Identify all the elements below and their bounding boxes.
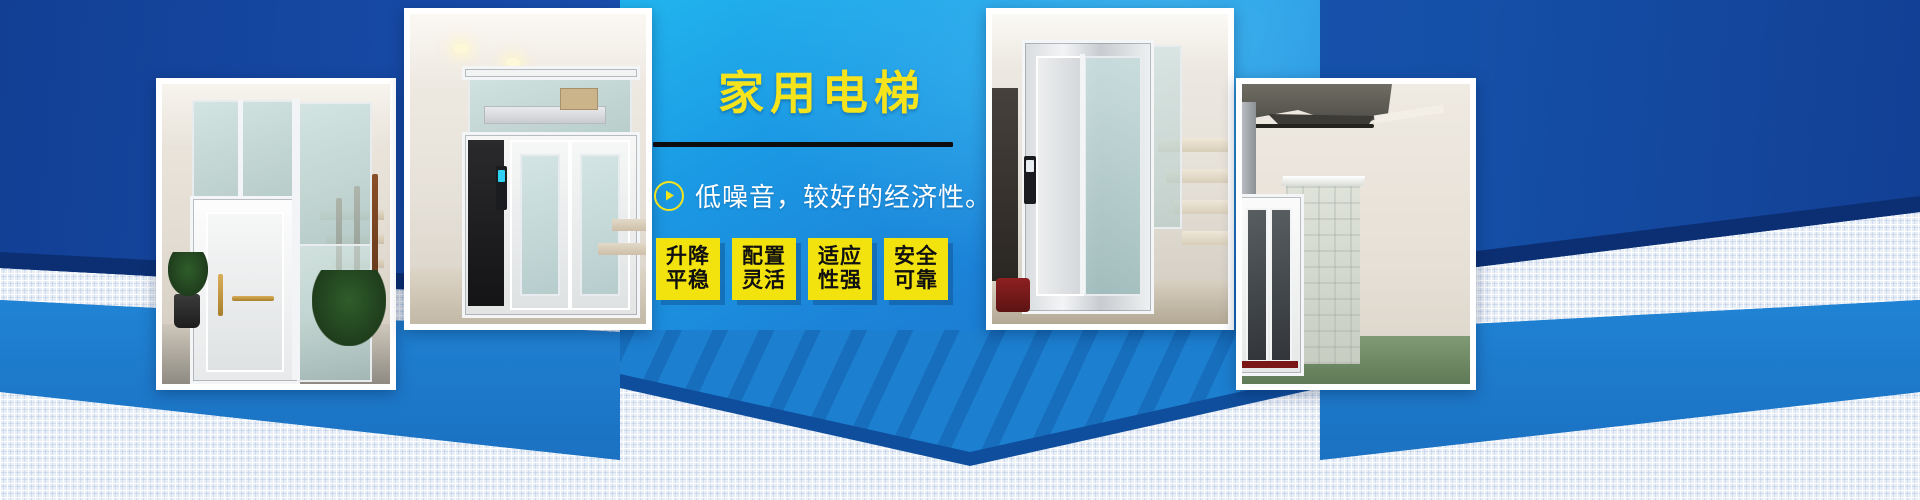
title-underline-rule [653,142,953,147]
page-title: 家用电梯 [666,70,978,116]
photo-card-3 [986,8,1234,330]
feature-tag-line2: 平稳 [666,269,710,293]
photo-home-elevator-white-double-door-lobby [410,14,646,324]
feature-tag-line1: 安全 [894,245,938,269]
feature-tag-line2: 灵活 [742,269,786,293]
center-bottom-chevron [620,330,1320,460]
circled-play-arrow-icon [654,181,684,211]
feature-tag-line1: 配置 [742,245,786,269]
feature-tag-list: 升降 平稳 配置 灵活 适应 性强 安全 可靠 [656,238,978,300]
feature-tag[interactable]: 安全 可靠 [884,238,948,300]
photo-card-2 [404,8,652,330]
feature-tag[interactable]: 配置 灵活 [732,238,796,300]
tagline-text: 低噪音，较好的经济性。 [695,177,992,214]
feature-tag-line2: 可靠 [894,269,938,293]
photo-home-elevator-install-unfinished-room [1242,84,1470,384]
copy-block: 家用电梯 低噪音，较好的经济性。 升降 平稳 配置 灵活 适应 性强 [648,70,978,300]
feature-tag[interactable]: 适应 性强 [808,238,872,300]
photo-home-elevator-stainless-door-staircase [992,14,1228,324]
photo-card-1 [156,78,396,390]
photo-card-4 [1236,78,1476,390]
feature-tag[interactable]: 升降 平稳 [656,238,720,300]
chevron-stripes [620,330,1320,460]
photo-home-elevator-glass-shaft-stairs [162,84,390,384]
feature-tag-line1: 适应 [818,245,862,269]
tagline-row: 低噪音，较好的经济性。 [654,177,978,214]
promo-banner: 家用电梯 低噪音，较好的经济性。 升降 平稳 配置 灵活 适应 性强 [0,0,1920,500]
feature-tag-line2: 性强 [818,269,862,293]
feature-tag-line1: 升降 [666,245,710,269]
